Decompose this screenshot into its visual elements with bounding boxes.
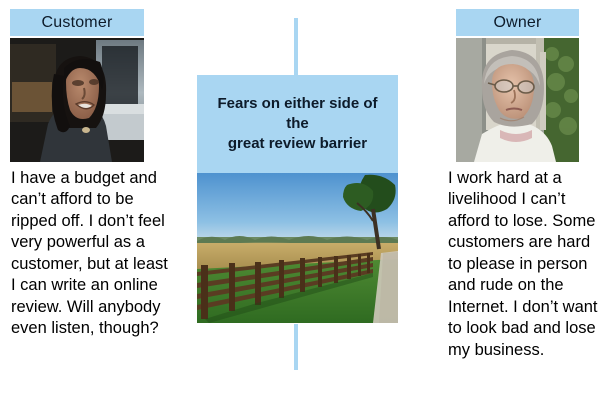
customer-quote-text: I have a budget and can’t afford to be r… bbox=[11, 168, 171, 340]
owner-quote-text: I work hard at a livelihood I can’t affo… bbox=[448, 168, 600, 361]
center-title-label: Fears on either side of the great review… bbox=[205, 94, 390, 153]
center-title-box: Fears on either side of the great review… bbox=[197, 75, 398, 173]
owner-banner: Owner bbox=[456, 9, 579, 36]
fence-barrier-photo bbox=[197, 173, 398, 323]
connector-line-top bbox=[294, 18, 298, 75]
customer-portrait-photo bbox=[10, 38, 144, 162]
slide-canvas: Customer bbox=[0, 0, 600, 400]
owner-portrait-photo bbox=[456, 38, 579, 162]
customer-banner: Customer bbox=[10, 9, 144, 36]
customer-banner-label: Customer bbox=[42, 14, 113, 32]
owner-banner-label: Owner bbox=[493, 14, 541, 32]
connector-line-bottom bbox=[294, 324, 298, 370]
